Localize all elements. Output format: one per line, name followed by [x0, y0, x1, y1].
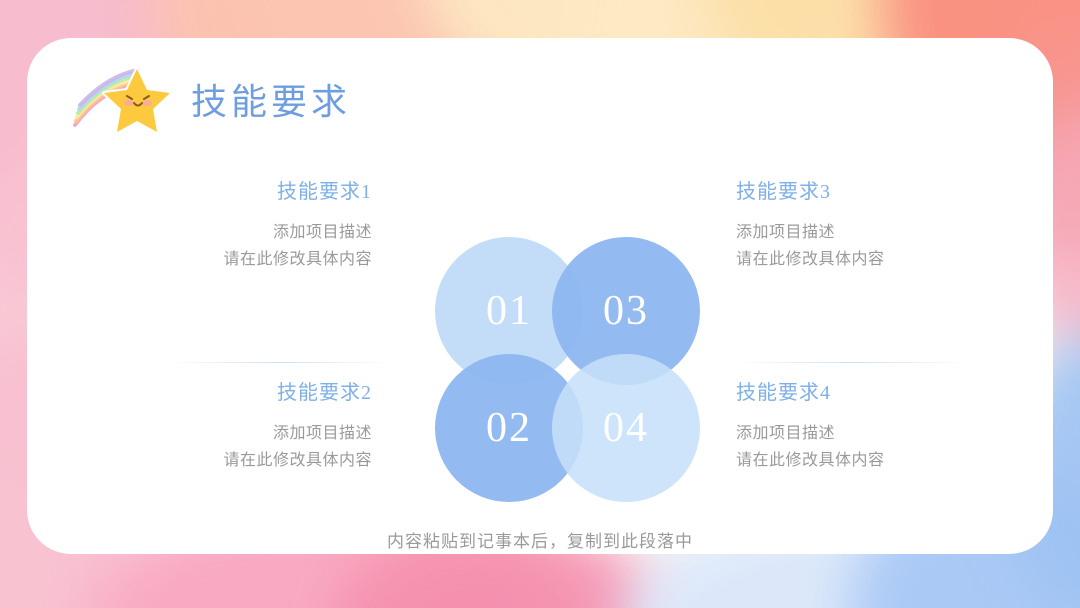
- skill-block-4: 技能要求4 添加项目描述 请在此修改具体内容: [736, 378, 976, 474]
- skill-block-3: 技能要求3 添加项目描述 请在此修改具体内容: [736, 177, 976, 273]
- divider-right: [737, 362, 969, 363]
- number-circle-04[interactable]: 04: [552, 354, 700, 502]
- skill-desc-3-line-2: 请在此修改具体内容: [736, 246, 976, 273]
- skill-title-1: 技能要求1: [132, 177, 372, 207]
- page-title: 技能要求: [191, 73, 351, 125]
- number-circles-group: 01 03 02 04: [435, 237, 705, 507]
- skill-block-2: 技能要求2 添加项目描述 请在此修改具体内容: [132, 378, 372, 474]
- skill-desc-1-line-2: 请在此修改具体内容: [132, 246, 372, 273]
- slide-card: 技能要求 技能要求1 添加项目描述 请在此修改具体内容 技能要求3 添加项目描述…: [27, 38, 1053, 554]
- skill-block-1: 技能要求1 添加项目描述 请在此修改具体内容: [132, 177, 372, 273]
- skill-title-3: 技能要求3: [736, 177, 976, 207]
- shooting-star-icon: [67, 63, 187, 135]
- skill-desc-4-line-2: 请在此修改具体内容: [736, 447, 976, 474]
- slide-header: 技能要求: [67, 63, 351, 135]
- skill-title-2: 技能要求2: [132, 378, 372, 408]
- skill-desc-3-line-1: 添加项目描述: [736, 219, 976, 246]
- skill-title-4: 技能要求4: [736, 378, 976, 408]
- divider-left: [167, 362, 395, 363]
- footer-caption: 内容粘贴到记事本后，复制到此段落中: [27, 527, 1053, 552]
- skill-desc-2-line-1: 添加项目描述: [132, 420, 372, 447]
- skill-desc-4-line-1: 添加项目描述: [736, 420, 976, 447]
- skill-desc-1-line-1: 添加项目描述: [132, 219, 372, 246]
- skill-desc-2-line-2: 请在此修改具体内容: [132, 447, 372, 474]
